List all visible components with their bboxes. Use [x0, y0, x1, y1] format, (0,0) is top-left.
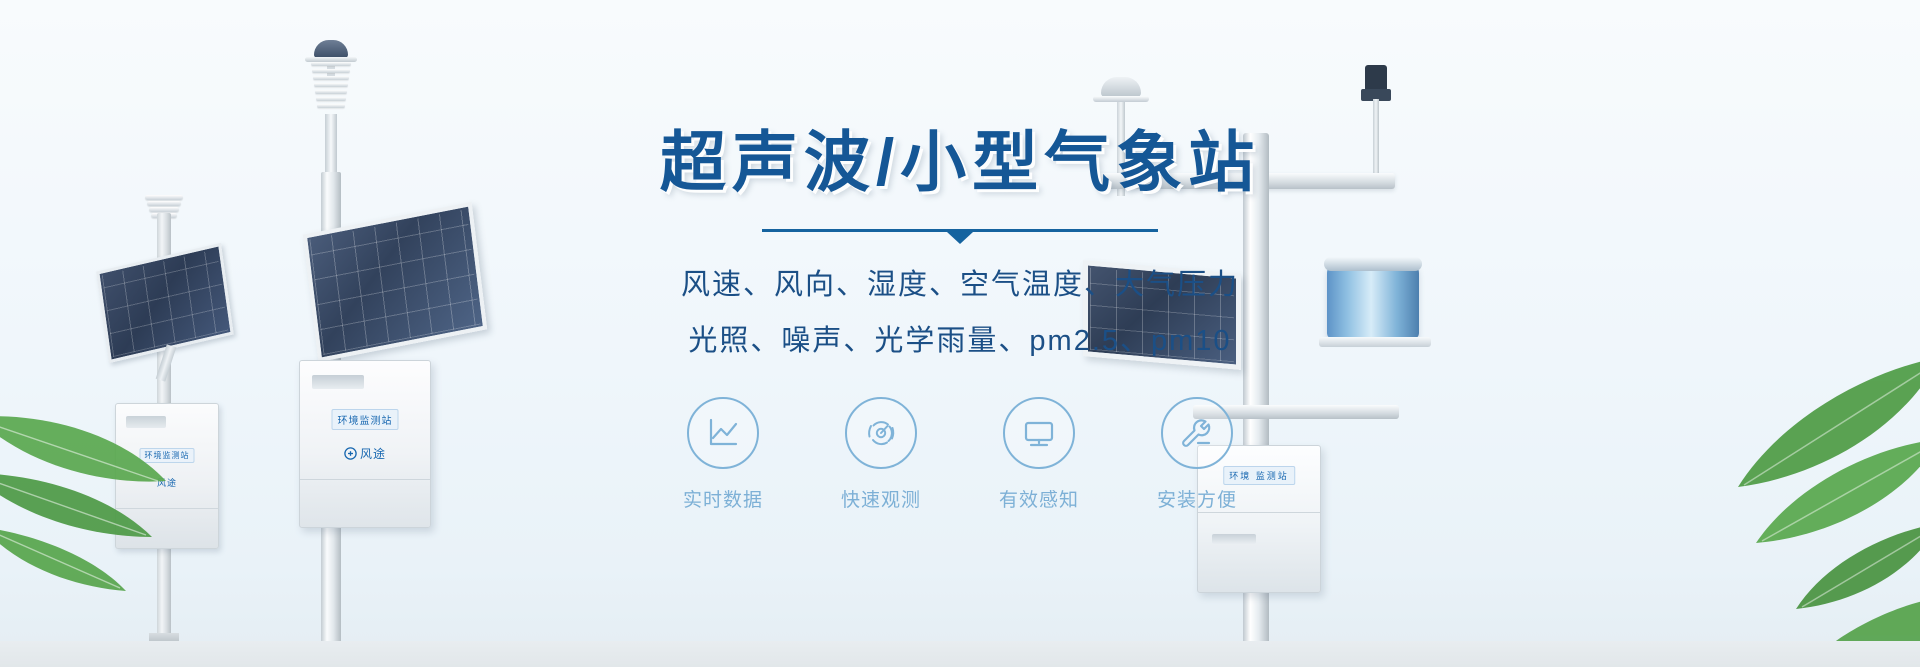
feature-icon-circle: [1003, 397, 1075, 469]
bottom-strip: [0, 641, 1920, 667]
feature-item-easy-install[interactable]: 安装方便: [1149, 397, 1245, 512]
divider-triangle-icon: [947, 232, 973, 244]
radar-signal-icon: [862, 414, 900, 452]
monitor-icon: [1020, 414, 1058, 452]
station-pole-top-b: [325, 114, 337, 176]
feature-label: 安装方便: [1157, 485, 1237, 512]
feature-label: 有效感知: [999, 485, 1079, 512]
cabinet-label-b: 环境监测站: [332, 409, 399, 430]
palm-leaf-right-decoration: [1610, 347, 1920, 647]
feature-icon-circle: [845, 397, 917, 469]
brand-mark-icon: [344, 447, 357, 460]
feature-label: 实时数据: [683, 485, 763, 512]
brand-logo-b: 风途: [344, 445, 386, 462]
weather-station-left-tall: 环境监测站 风途: [285, 22, 495, 647]
wrench-icon: [1178, 414, 1216, 452]
feature-icon-circle: [687, 397, 759, 469]
palm-leaf-left-decoration: [0, 377, 230, 607]
feature-item-realtime-data[interactable]: 实时数据: [675, 397, 771, 512]
product-banner: 环境监测站 风途 环境监测站: [0, 0, 1920, 667]
feature-item-effective-sensing[interactable]: 有效感知: [991, 397, 1087, 512]
subtitle-line-1: 风速、风向、湿度、空气温度、大气压力: [681, 261, 1239, 303]
feature-icon-circle: [1161, 397, 1233, 469]
solar-panel-a: [96, 243, 234, 363]
rain-gauge-sensor: [1327, 251, 1419, 347]
cabinet-vent-right: [1212, 534, 1256, 544]
line-chart-icon: [704, 414, 742, 452]
brand-logo-text-b: 风途: [360, 445, 386, 462]
radiation-shield-sensor-b: [311, 62, 351, 118]
feature-list: 实时数据 快速观测: [675, 397, 1245, 512]
page-title: 超声波/小型气象站: [660, 128, 1260, 197]
feature-label: 快速观测: [841, 485, 921, 512]
cabinet-vent-b: [312, 375, 364, 389]
subtitle-line-2: 光照、噪声、光学雨量、pm2.5、pm10: [688, 317, 1231, 359]
feature-item-fast-observation[interactable]: 快速观测: [833, 397, 929, 512]
cabinet-seam-b: [300, 479, 430, 480]
equipment-cabinet-b: 环境监测站 风途: [299, 360, 431, 528]
title-divider: [762, 223, 1158, 245]
wind-vane-sensor: [1359, 65, 1393, 177]
